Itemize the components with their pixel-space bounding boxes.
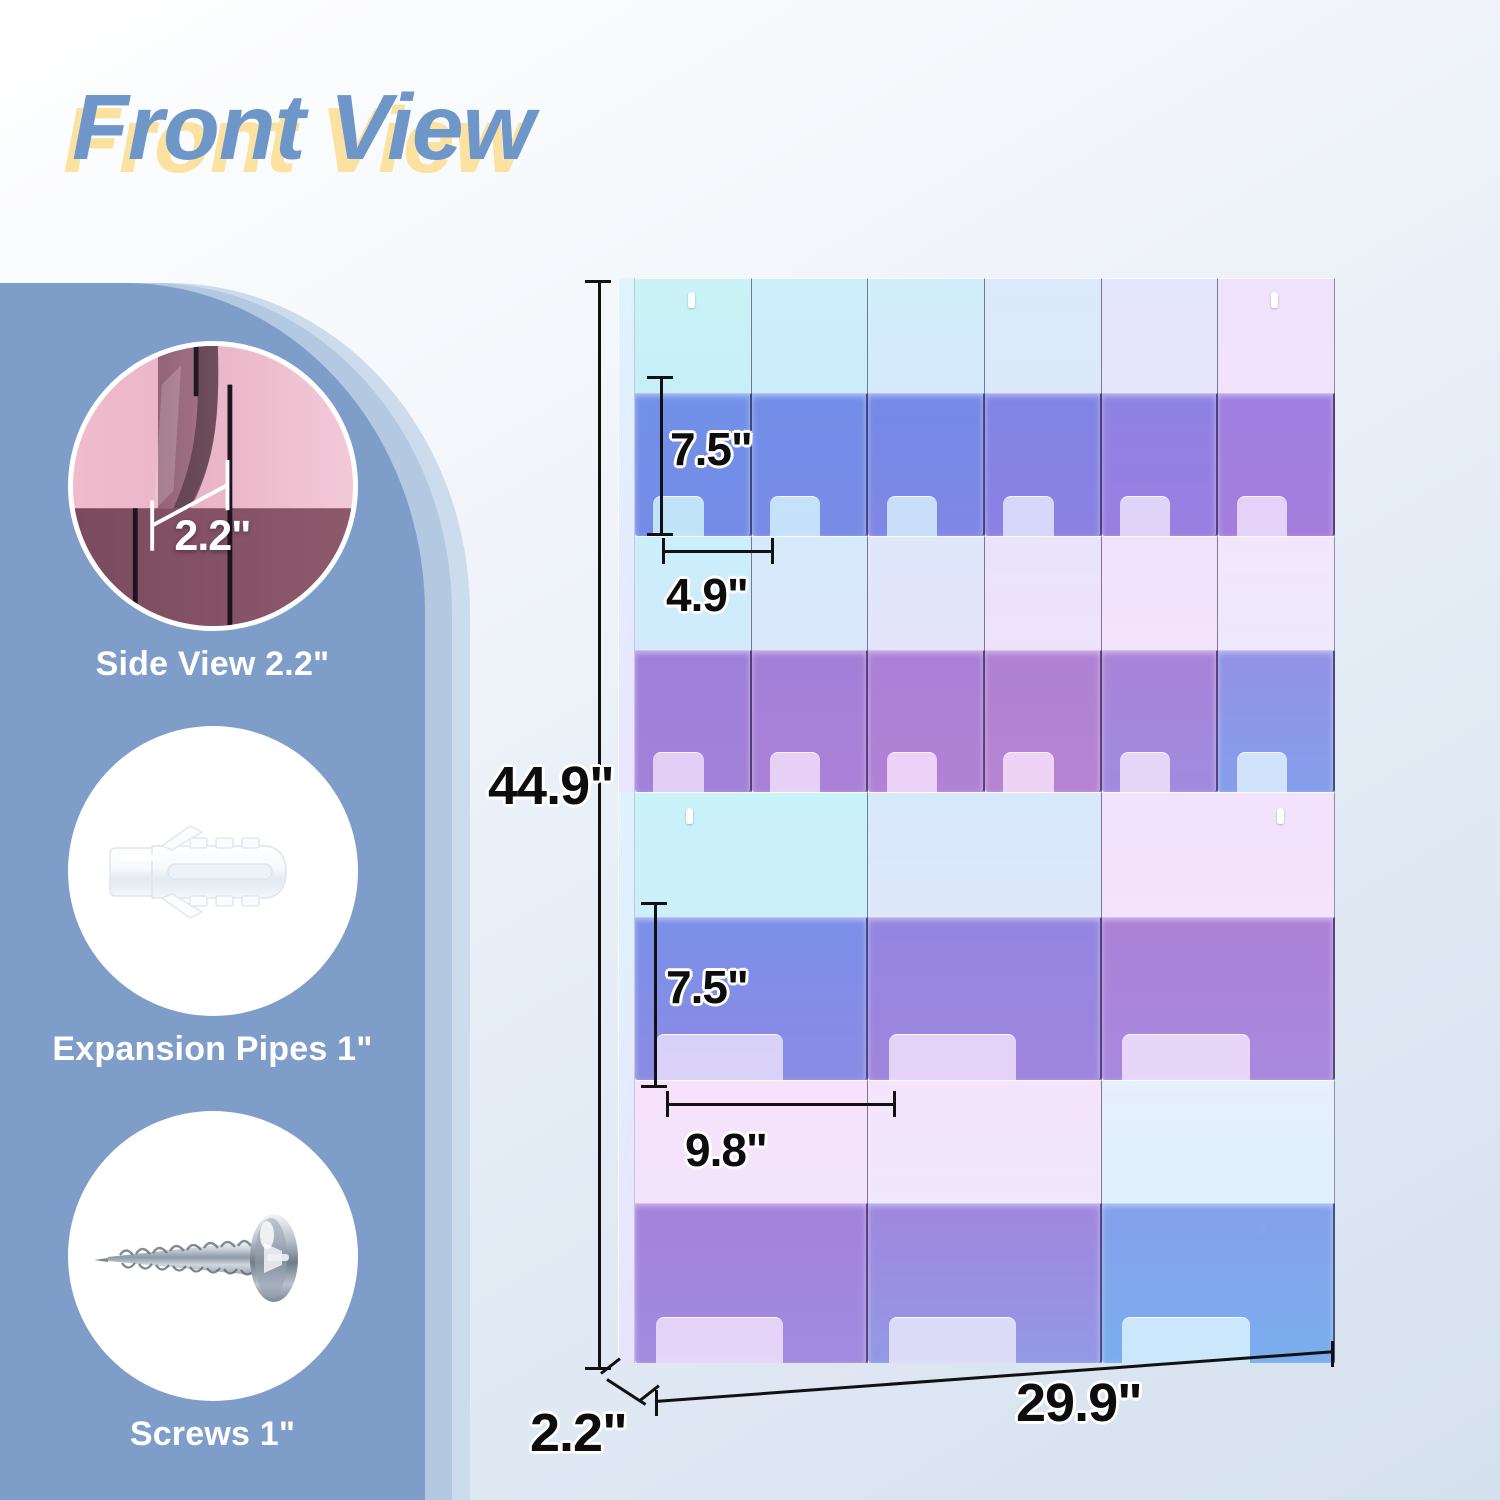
sidebar-item-expansion-pipes[interactable]: Expansion Pipes 1": [0, 726, 425, 1069]
dimension-line: [660, 376, 663, 536]
pocket-upper-1[interactable]: [635, 278, 752, 536]
pocket-notch: [1120, 496, 1170, 536]
pocket-notch: [889, 1317, 1016, 1363]
sidebar-panel: 2.2" Side View 2.2": [0, 283, 470, 1500]
wall-anchor-illustration: [68, 726, 358, 1016]
pocket-upper-12[interactable]: [1218, 536, 1335, 792]
dimension-line: [598, 280, 601, 1370]
pocket-notch: [887, 752, 937, 792]
dimension-label-depth: 2.2": [530, 1402, 627, 1464]
pocket-upper-11[interactable]: [1102, 536, 1219, 792]
pocket-notch: [1003, 496, 1053, 536]
pocket-front-lip: [1102, 393, 1219, 536]
pocket-front-lip: [1218, 393, 1335, 536]
dimension-tick-top: [641, 902, 667, 905]
dimension-label-total-width: 29.9": [1016, 1372, 1142, 1434]
pocket-notch: [656, 1034, 783, 1080]
pocket-notch: [1122, 1317, 1249, 1363]
dimension-tick-left: [662, 538, 665, 564]
pocket-notch: [770, 752, 820, 792]
upper-row-1: [635, 278, 1335, 536]
dimension-line: [662, 550, 774, 553]
pocket-lower-3[interactable]: [1102, 792, 1335, 1080]
pocket-upper-8[interactable]: [752, 536, 869, 792]
pocket-lower-2[interactable]: [868, 792, 1101, 1080]
dimension-tick-right: [1331, 1341, 1334, 1367]
pocket-upper-5[interactable]: [1102, 278, 1219, 536]
pocket-upper-3[interactable]: [868, 278, 985, 536]
pocket-upper-2[interactable]: [752, 278, 869, 536]
keyhole-slot: [1271, 292, 1278, 308]
screw-illustration: [68, 1111, 358, 1401]
page-title: Front View Front View: [72, 72, 752, 182]
dimension-tick-bottom: [641, 1085, 667, 1088]
pocket-lower-6[interactable]: [1102, 1080, 1335, 1363]
pocket-upper-6[interactable]: [1218, 278, 1335, 536]
pocket-notch: [889, 1034, 1016, 1080]
pocket-front-lip: [1102, 1203, 1335, 1363]
dimension-line: [654, 902, 657, 1088]
sidebar-item-side-view[interactable]: 2.2" Side View 2.2": [0, 341, 425, 684]
pocket-notch: [1120, 752, 1170, 792]
dimension-label-upper-pocket-height: 7.5": [670, 422, 752, 476]
pocket-upper-10[interactable]: [985, 536, 1102, 792]
pocket-front-lip: [1102, 917, 1335, 1080]
page-title-text: Front View: [72, 72, 534, 182]
pocket-notch: [1003, 752, 1053, 792]
dimension-tick-bottom: [647, 533, 673, 536]
pocket-front-lip: [985, 650, 1102, 792]
keyhole-slot: [688, 292, 695, 308]
pocket-lower-1[interactable]: [635, 792, 868, 1080]
pocket-notch: [656, 1317, 783, 1363]
dimension-label-lower-pocket-height: 7.5": [666, 960, 748, 1014]
dimension-line: [666, 1103, 896, 1106]
keyhole-slot: [686, 808, 693, 824]
organizer-side-edge-upper: [618, 278, 635, 792]
keyhole-slot: [1277, 808, 1284, 824]
dimension-label-total-height: 44.9": [488, 755, 614, 817]
pocket-upper-4[interactable]: [985, 278, 1102, 536]
pocket-front-lip: [1218, 650, 1335, 792]
lower-row-1: [635, 792, 1335, 1080]
screw-icon: [68, 1111, 358, 1401]
wall-anchor-icon: [68, 726, 358, 1016]
pocket-front-lip: [868, 1203, 1101, 1363]
side-view-callout: 2.2": [73, 512, 353, 561]
dimension-label-lower-pocket-width: 9.8": [685, 1123, 767, 1177]
dimension-tick-top: [647, 376, 673, 379]
pocket-front-lip: [752, 393, 869, 536]
pocket-upper-9[interactable]: [868, 536, 985, 792]
sidebar-item-label-side-view: Side View 2.2": [0, 645, 425, 684]
pocket-front-lip: [635, 1203, 868, 1363]
sidebar-item-label-screws: Screws 1": [0, 1415, 425, 1454]
side-view-illustration: [73, 346, 353, 626]
upper-section: [635, 278, 1335, 792]
pocket-front-lip: [752, 650, 869, 792]
sidebar-item-screws[interactable]: Screws 1": [0, 1111, 425, 1454]
pocket-notch: [770, 496, 820, 536]
dimension-tick-top: [585, 280, 611, 283]
dimension-tick-right: [893, 1091, 896, 1117]
dimension-label-upper-pocket-width: 4.9": [666, 568, 748, 622]
pocket-front-lip: [1102, 650, 1219, 792]
pocket-front-lip: [635, 650, 752, 792]
dimension-tick-left: [655, 1390, 658, 1416]
sidebar-item-label-expansion-pipes: Expansion Pipes 1": [0, 1030, 425, 1069]
pocket-front-lip: [868, 393, 985, 536]
organizer-side-edge-lower: [618, 792, 635, 1363]
pocket-notch: [653, 752, 703, 792]
product-illustration: 44.9" 7.5" 4.9" 7.5" 9.8" 2.2": [480, 250, 1500, 1500]
pocket-notch: [1237, 752, 1287, 792]
lower-section: [635, 792, 1335, 1363]
pocket-front-lip: [868, 650, 985, 792]
pocket-notch: [1122, 1034, 1249, 1080]
dimension-tick-left: [666, 1091, 669, 1117]
acrylic-side-view-icon: 2.2": [68, 341, 358, 631]
pocket-notch: [887, 496, 937, 536]
pocket-front-lip: [868, 917, 1101, 1080]
pocket-lower-5[interactable]: [868, 1080, 1101, 1363]
dimension-tick-right: [771, 538, 774, 564]
pocket-front-lip: [985, 393, 1102, 536]
pocket-notch: [1237, 496, 1287, 536]
